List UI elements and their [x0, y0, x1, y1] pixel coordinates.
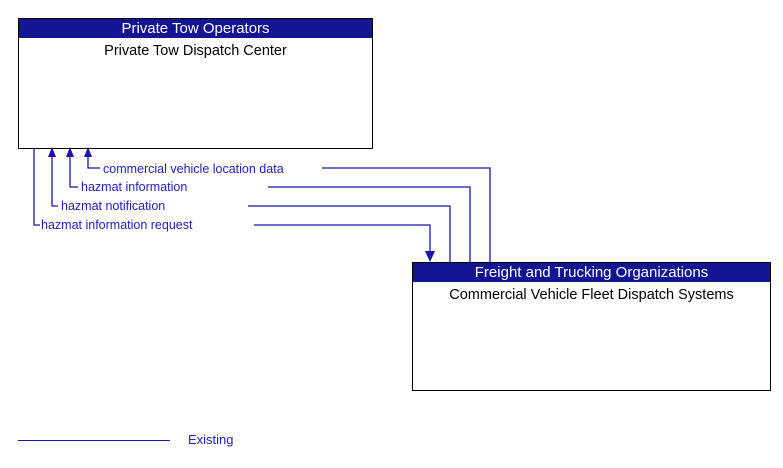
flow-label-hazmat-notification[interactable]: hazmat notification	[60, 200, 166, 213]
legend: Existing	[18, 431, 318, 451]
legend-swatch-existing-line	[18, 440, 170, 441]
flow-label-commercial-vehicle-location-data[interactable]: commercial vehicle location data	[102, 163, 285, 176]
entity-stakeholder-header-private-tow-operators: Private Tow Operators	[19, 19, 372, 38]
entity-element-name-commercial-vehicle-fleet-dispatch-systems: Commercial Vehicle Fleet Dispatch System…	[413, 282, 770, 304]
entity-element-name-private-tow-dispatch-center: Private Tow Dispatch Center	[19, 38, 372, 60]
legend-label-existing: Existing	[188, 432, 234, 447]
architecture-flow-diagram: Private Tow Operators Private Tow Dispat…	[0, 0, 783, 468]
entity-box-private-tow-operators[interactable]: Private Tow Operators Private Tow Dispat…	[18, 18, 373, 149]
flow-label-hazmat-information-request[interactable]: hazmat information request	[40, 219, 193, 232]
entity-stakeholder-header-freight-and-trucking-organizations: Freight and Trucking Organizations	[413, 263, 770, 282]
entity-box-freight-and-trucking-organizations[interactable]: Freight and Trucking Organizations Comme…	[412, 262, 771, 391]
flow-label-hazmat-information[interactable]: hazmat information	[80, 181, 188, 194]
